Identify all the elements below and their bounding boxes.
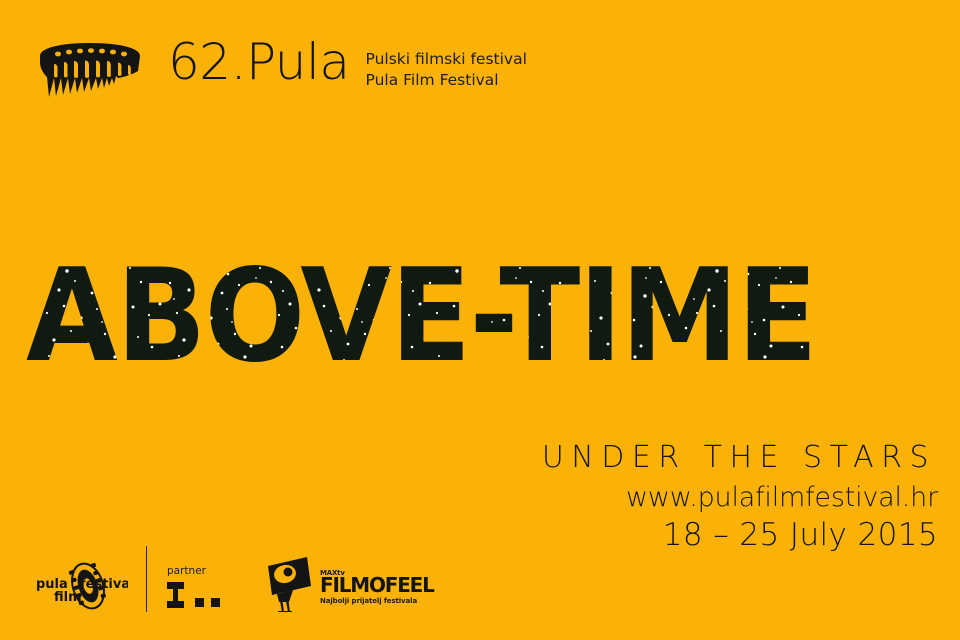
header-subtitle-group: Pulski filmski festival Pula Film Festiv… [366,49,527,91]
subtitle-english: Pula Film Festival [366,70,527,91]
telekom-t-icon [165,580,237,610]
sponsor-tagline: Najbolji prijatelj festivala [320,597,434,606]
pff-word-film: film [54,590,82,605]
pula-film-festival-logo: pula film festival [36,558,128,614]
festival-dates: 18 – 25 July 2015 [542,516,938,554]
subtitle-croatian: Pulski filmski festival [366,49,527,70]
sponsor-name: FILMOFEEL [320,576,434,595]
filmofeel-screen-eye-icon [263,554,315,612]
tagline-block: UNDER THE STARS www.pulafilmfestival.hr … [542,440,938,554]
partner-label: partner [167,565,206,577]
main-title-svg: ABOVE-TIME [26,252,816,374]
partner-block: partner [165,565,237,614]
poster-footer: pula film festival partner [36,544,434,614]
sponsor-text-block: MAXtv FILMOFEEL Najbolji prijatelj festi… [320,569,434,612]
main-title: ABOVE-TIME [26,252,816,374]
header-title-group: 62.Pula Pulski filmski festival Pula Fil… [168,36,527,91]
poster-header: 62.Pula Pulski filmski festival Pula Fil… [34,36,527,102]
edition-title: 62.Pula [168,36,350,88]
festival-poster: 62.Pula Pulski filmski festival Pula Fil… [0,0,960,640]
sponsor-block: MAXtv FILMOFEEL Najbolji prijatelj festi… [263,554,434,614]
pula-arena-icon [34,40,146,102]
footer-divider [146,546,147,612]
main-title-text: ABOVE-TIME [26,252,816,374]
slogan-under-the-stars: UNDER THE STARS [542,440,938,476]
website-url[interactable]: www.pulafilmfestival.hr [542,480,938,516]
pff-word-festival: festival [80,577,128,592]
